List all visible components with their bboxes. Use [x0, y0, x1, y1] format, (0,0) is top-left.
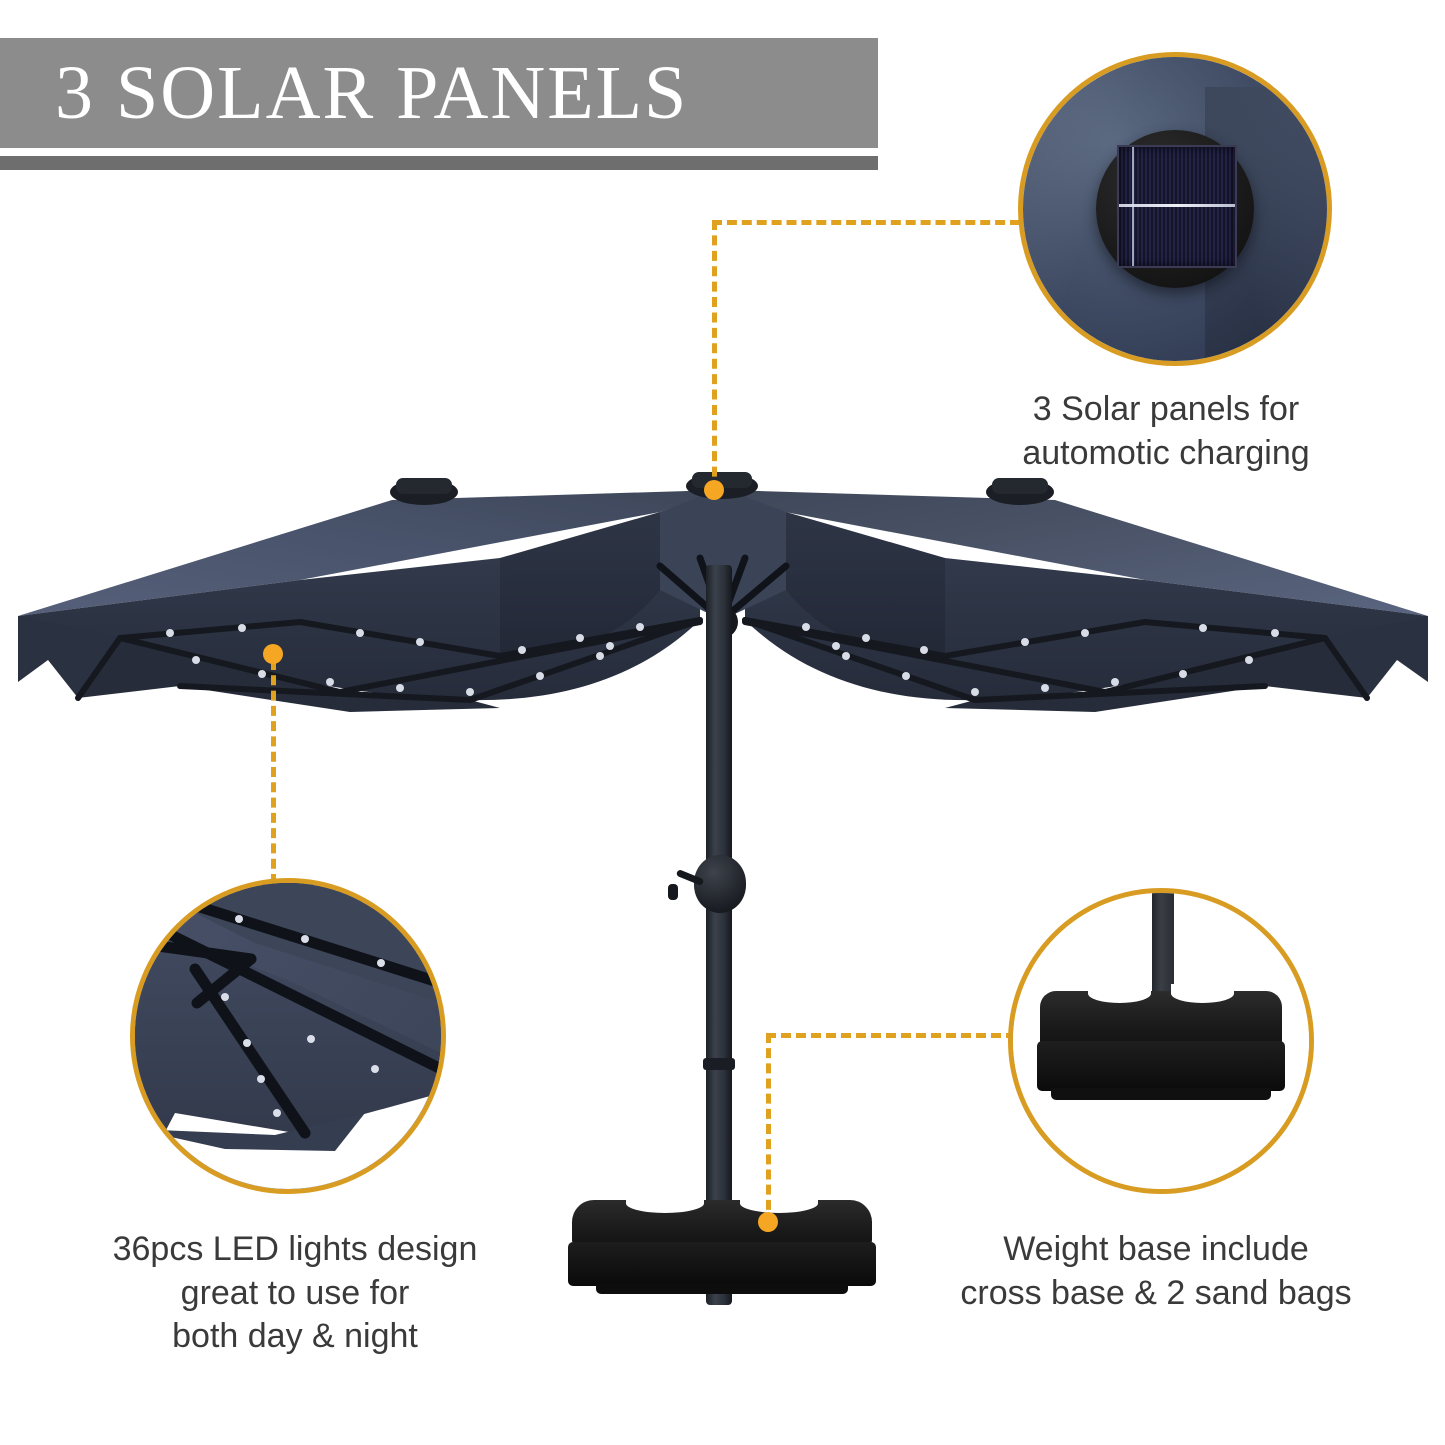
crank-knob-icon — [668, 884, 678, 900]
connector-base-vertical — [766, 1033, 771, 1225]
connector-solar-vertical — [712, 220, 717, 492]
infographic-stage: 3 SOLAR PANELS — [0, 0, 1445, 1445]
weight-base-closeup-photo — [1013, 893, 1309, 1189]
callout-caption-weight-base: Weight base include cross base & 2 sand … — [930, 1228, 1382, 1315]
pole-joint — [703, 1058, 735, 1070]
led-rib-diagram — [135, 883, 441, 1189]
hotspot-dot-base[interactable] — [758, 1212, 778, 1232]
title-underline-bar — [0, 156, 878, 170]
callout-circle-led-lights — [130, 878, 446, 1194]
hotspot-dot-solar[interactable] — [704, 480, 724, 500]
weight-base-cushion — [572, 1200, 872, 1246]
led-closeup-photo — [135, 883, 441, 1189]
connector-base-horizontal — [766, 1033, 1016, 1038]
callout-circle-weight-base — [1008, 888, 1314, 1194]
title-banner: 3 SOLAR PANELS — [0, 38, 878, 148]
base-body — [1037, 1041, 1286, 1091]
solar-panel-icon — [1117, 145, 1237, 268]
weight-base-foot — [596, 1284, 848, 1294]
callout-caption-led-lights: 36pcs LED lights design great to use for… — [50, 1228, 540, 1359]
callout-circle-solar-panels — [1018, 52, 1332, 366]
weight-base-body — [568, 1242, 876, 1286]
callout-caption-solar-panels: 3 Solar panels for automotic charging — [956, 388, 1376, 475]
connector-led-vertical — [271, 660, 276, 884]
connector-solar-horizontal — [712, 220, 1020, 225]
page-title: 3 SOLAR PANELS — [0, 55, 688, 131]
hotspot-dot-led[interactable] — [263, 644, 283, 664]
umbrella-pole — [706, 565, 732, 1305]
base-foot — [1051, 1088, 1270, 1100]
